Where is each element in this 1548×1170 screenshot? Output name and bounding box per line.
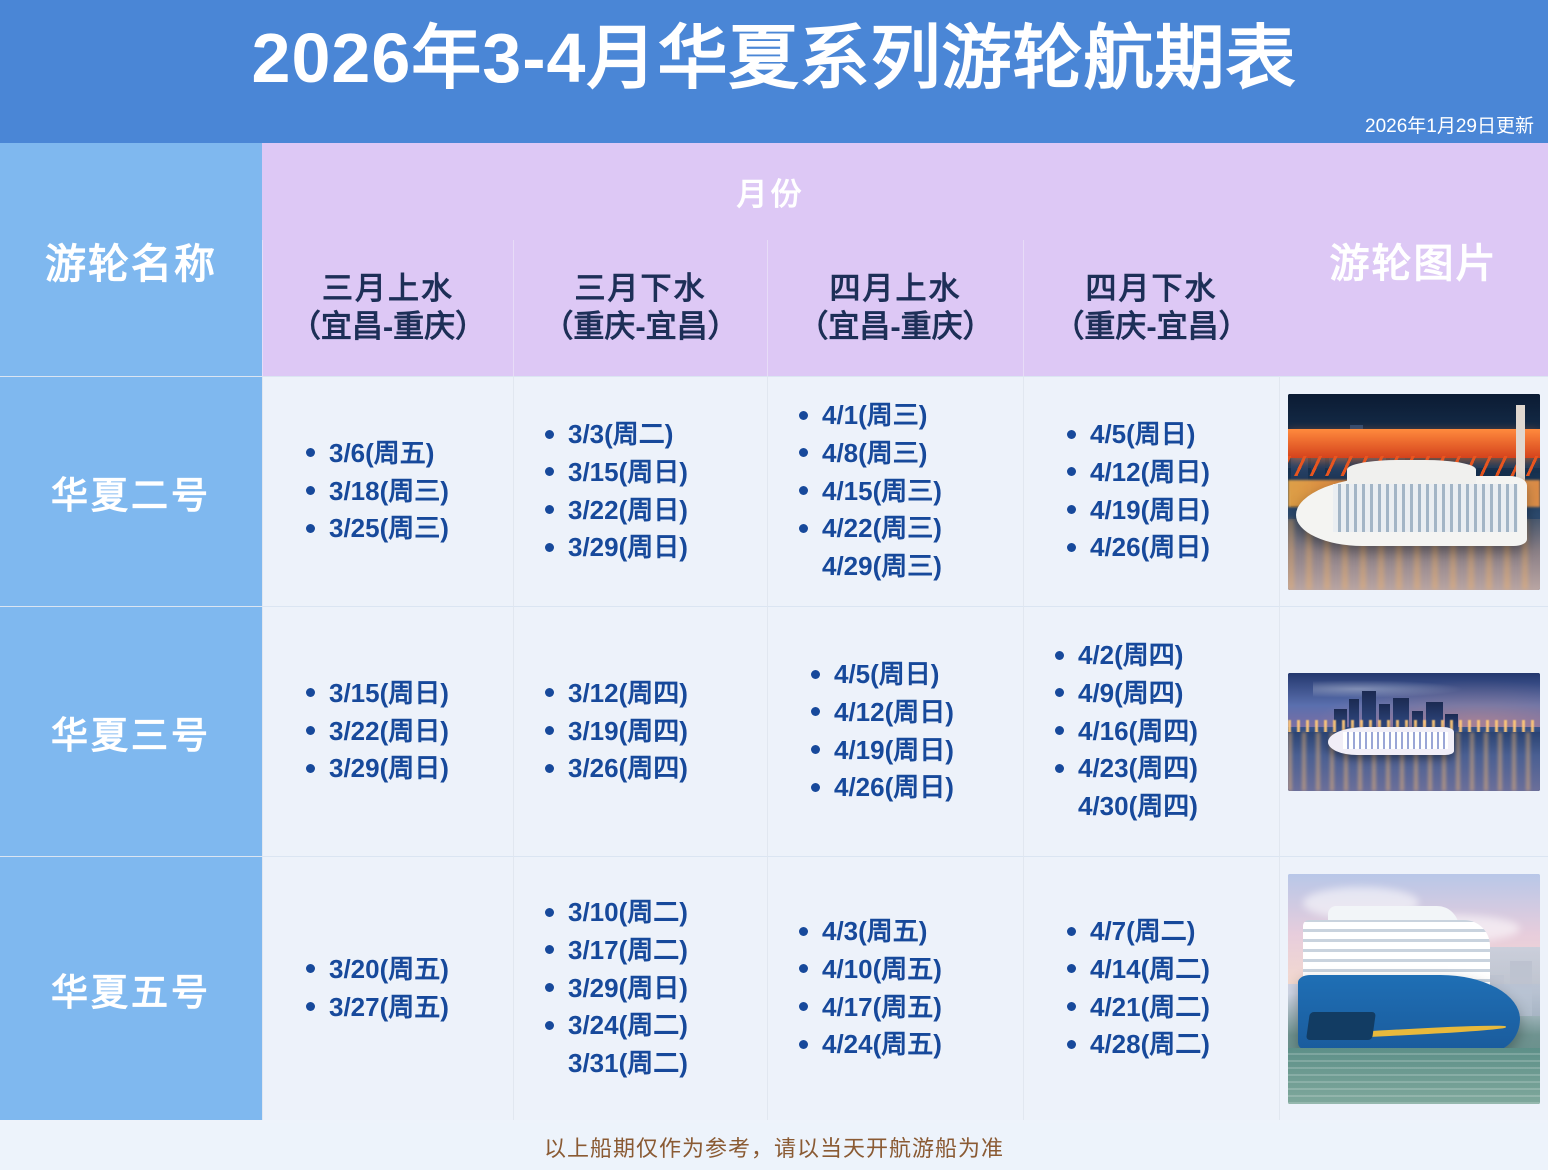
date-item: 3/22(周日) [536,492,767,530]
date-item: 4/21(周二) [1058,989,1279,1027]
date-list: 3/3(周二)3/15(周日)3/22(周日)3/29(周日) [514,416,767,567]
cell-apr-up: 4/3(周五)4/10(周五)4/17(周五)4/24(周五) [767,856,1023,1120]
date-list: 4/1(周三)4/8(周三)4/15(周三)4/22(周三)4/29(周三) [768,397,1023,585]
ship-photo-2 [1288,673,1540,791]
page-title: 2026年3-4月华夏系列游轮航期表 [0,22,1548,96]
header-col-mar-down-line1: 三月下水 [575,270,707,308]
date-item: 4/1(周三) [790,397,1023,435]
ship-photo-3 [1288,874,1540,1104]
date-item: 4/17(周五) [790,989,1023,1027]
date-item: 4/26(周日) [1058,529,1279,567]
cell-photo [1279,856,1548,1120]
date-item: 3/26(周四) [536,750,767,788]
cell-mar-down: 3/12(周四)3/19(周四)3/26(周四) [513,606,767,856]
date-item: 4/10(周五) [790,951,1023,989]
date-item: 3/29(周日) [297,750,513,788]
date-item: 4/15(周三) [790,473,1023,511]
date-item: 4/23(周四) [1046,750,1279,788]
header-col-mar-up-line2: （宜昌-重庆） [290,308,486,346]
date-item: 3/15(周日) [297,675,513,713]
ship-name: 华夏三号 [51,705,211,759]
header-ship-photo-label: 游轮图片 [1330,231,1498,289]
updated-date: 2026年1月29日更新 [1365,111,1534,138]
ship-name: 华夏五号 [51,962,211,1016]
header-col-apr-down: 四月下水 （重庆-宜昌） [1023,240,1279,376]
table-row: 华夏五号 [0,856,262,1120]
table-row: 华夏三号 [0,606,262,856]
date-list: 4/5(周日)4/12(周日)4/19(周日)4/26(周日) [768,656,1023,807]
date-item: 4/7(周二) [1058,913,1279,951]
cell-apr-down: 4/2(周四)4/9(周四)4/16(周四)4/23(周四)4/30(周四) [1023,606,1279,856]
date-list: 4/3(周五)4/10(周五)4/17(周五)4/24(周五) [768,913,1023,1064]
date-item: 3/22(周日) [297,713,513,751]
date-list: 3/10(周二)3/17(周二)3/29(周日)3/24(周二)3/31(周二) [514,894,767,1082]
date-item: 4/16(周四) [1046,713,1279,751]
date-list: 3/20(周五)3/27(周五) [263,951,513,1026]
header-col-apr-up: 四月上水 （宜昌-重庆） [767,240,1023,376]
cell-mar-up: 3/6(周五)3/18(周三)3/25(周三) [262,376,513,606]
date-item: 4/9(周四) [1046,675,1279,713]
date-item: 4/19(周日) [1058,492,1279,530]
date-item: 4/2(周四) [1046,637,1279,675]
header-col-apr-up-line1: 四月上水 [830,270,962,308]
date-list: 3/15(周日)3/22(周日)3/29(周日) [263,675,513,788]
header-month-label: 月份 [737,169,805,214]
cell-photo [1279,376,1548,606]
header-col-mar-down: 三月下水 （重庆-宜昌） [513,240,767,376]
header-ship-photo: 游轮图片 [1279,143,1548,376]
header-ship-name: 游轮名称 [0,143,262,376]
cell-apr-up: 4/5(周日)4/12(周日)4/19(周日)4/26(周日) [767,606,1023,856]
cell-mar-down: 3/10(周二)3/17(周二)3/29(周日)3/24(周二)3/31(周二) [513,856,767,1120]
date-item: 3/24(周二) [536,1007,767,1045]
header-col-apr-up-line2: （宜昌-重庆） [797,308,993,346]
date-item: 3/10(周二) [536,894,767,932]
header-month-group: 月份 [262,143,1279,240]
cruise-schedule-page: 湖北好旅伴国际旅行社 HUBEI HAOLVBAN INTERNATIONAL … [0,0,1548,1170]
date-item: 4/5(周日) [802,656,1023,694]
cell-apr-up: 4/1(周三)4/8(周三)4/15(周三)4/22(周三)4/29(周三) [767,376,1023,606]
date-item: 4/14(周二) [1058,951,1279,989]
header-col-mar-up: 三月上水 （宜昌-重庆） [262,240,513,376]
date-item: 3/3(周二) [536,416,767,454]
date-item: 3/17(周二) [536,932,767,970]
footer-note-text: 以上船期仅作为参考，请以当天开航游船为准 [544,1131,1004,1163]
date-item: 4/22(周三) [790,510,1023,548]
cell-mar-up: 3/15(周日)3/22(周日)3/29(周日) [262,606,513,856]
date-item: 4/29(周三) [790,548,1023,586]
date-item: 4/5(周日) [1058,416,1279,454]
footer-note: 以上船期仅作为参考，请以当天开航游船为准 [0,1123,1548,1170]
date-item: 3/18(周三) [297,473,513,511]
header-col-mar-down-line2: （重庆-宜昌） [542,308,738,346]
header-col-mar-up-line1: 三月上水 [322,270,454,308]
date-item: 4/8(周三) [790,435,1023,473]
date-item: 3/31(周二) [536,1045,767,1083]
date-item: 3/15(周日) [536,454,767,492]
date-list: 3/12(周四)3/19(周四)3/26(周四) [514,675,767,788]
date-item: 3/27(周五) [297,989,513,1027]
date-item: 3/25(周三) [297,510,513,548]
header-col-apr-down-line2: （重庆-宜昌） [1053,308,1249,346]
cell-apr-down: 4/7(周二)4/14(周二)4/21(周二)4/28(周二) [1023,856,1279,1120]
date-item: 3/29(周日) [536,970,767,1008]
date-item: 4/12(周日) [802,694,1023,732]
date-item: 4/12(周日) [1058,454,1279,492]
ship-photo-1 [1288,394,1540,590]
date-item: 3/6(周五) [297,435,513,473]
cell-photo [1279,606,1548,856]
cell-mar-up: 3/20(周五)3/27(周五) [262,856,513,1120]
date-item: 3/12(周四) [536,675,767,713]
date-list: 4/5(周日)4/12(周日)4/19(周日)4/26(周日) [1024,416,1279,567]
date-list: 4/7(周二)4/14(周二)4/21(周二)4/28(周二) [1024,913,1279,1064]
ship-name: 华夏二号 [51,465,211,519]
date-list: 3/6(周五)3/18(周三)3/25(周三) [263,435,513,548]
table-row: 华夏二号 [0,376,262,606]
cell-mar-down: 3/3(周二)3/15(周日)3/22(周日)3/29(周日) [513,376,767,606]
schedule-table: 游轮名称 月份 游轮图片 三月上水 （宜昌-重庆） 三月下水 （重庆-宜昌） 四… [0,143,1548,1123]
date-item: 4/30(周四) [1046,788,1279,826]
header-col-apr-down-line1: 四月下水 [1086,270,1218,308]
cell-apr-down: 4/5(周日)4/12(周日)4/19(周日)4/26(周日) [1023,376,1279,606]
date-item: 3/29(周日) [536,529,767,567]
date-list: 4/2(周四)4/9(周四)4/16(周四)4/23(周四)4/30(周四) [1024,637,1279,825]
header-ship-name-label: 游轮名称 [45,230,217,290]
date-item: 4/3(周五) [790,913,1023,951]
page-banner: 2026年3-4月华夏系列游轮航期表 2026年1月29日更新 [0,0,1548,143]
date-item: 4/28(周二) [1058,1026,1279,1064]
date-item: 3/19(周四) [536,713,767,751]
date-item: 3/20(周五) [297,951,513,989]
date-item: 4/24(周五) [790,1026,1023,1064]
date-item: 4/26(周日) [802,769,1023,807]
date-item: 4/19(周日) [802,732,1023,770]
